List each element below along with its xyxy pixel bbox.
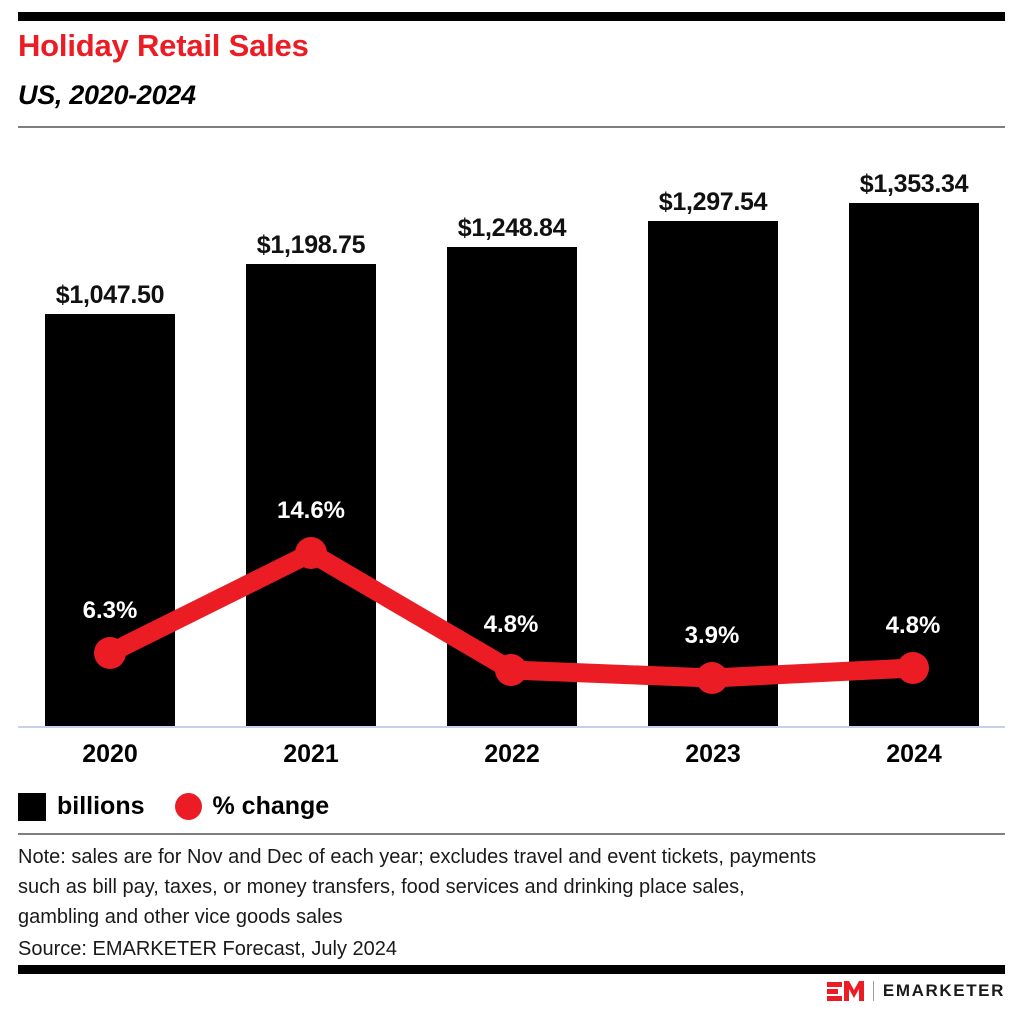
legend-item-percent-change: % change [175,792,330,821]
circle-swatch-icon [175,793,202,820]
bar-value-label-2023: $1,297.54 [623,188,803,217]
bar-value-label-2022: $1,248.84 [422,214,602,243]
bar-2022 [447,247,577,726]
legend-label-billions: billions [57,792,145,821]
note-line-2: such as bill pay, taxes, or money transf… [18,872,978,902]
x-tick-2021: 2021 [241,740,381,769]
bar-2024 [849,203,979,726]
brand-wordmark: EMARKETER [883,981,1005,1001]
percent-label-2024: 4.8% [843,612,983,640]
percent-label-2021: 14.6% [241,497,381,525]
bar-2023 [648,221,778,726]
bar-value-label-2021: $1,198.75 [221,231,401,260]
square-swatch-icon [18,793,46,821]
x-tick-2022: 2022 [442,740,582,769]
bar-value-label-2024: $1,353.34 [824,170,1004,199]
x-tick-2023: 2023 [643,740,783,769]
bar-2020 [45,314,175,726]
bar-value-label-2020: $1,047.50 [20,281,200,310]
source-line: Source: EMARKETER Forecast, July 2024 [18,934,978,964]
em-m-glyph-icon [844,981,864,1001]
x-tick-2020: 2020 [40,740,180,769]
chart-page: Holiday Retail Sales US, 2020-2024 $1,04… [0,0,1020,1016]
bottom-rule [18,965,1005,974]
footnote-block: Note: sales are for Nov and Dec of each … [18,842,978,964]
chart-legend: billions % change [18,792,329,821]
percent-label-2020: 6.3% [40,597,180,625]
bar-2021 [246,264,376,726]
logo-divider [873,981,874,1001]
legend-label-percent-change: % change [213,792,330,821]
em-e-glyph-icon [827,982,842,1001]
x-tick-2024: 2024 [844,740,984,769]
x-axis-line [18,726,1005,728]
legend-item-billions: billions [18,792,145,821]
footer-divider [18,833,1005,835]
em-monogram-icon [827,981,864,1001]
percent-label-2023: 3.9% [642,622,782,650]
emarketer-logo: EMARKETER [827,981,1005,1001]
percent-label-2022: 4.8% [441,611,581,639]
note-line-1: Note: sales are for Nov and Dec of each … [18,842,978,872]
note-line-3: gambling and other vice goods sales [18,902,978,932]
